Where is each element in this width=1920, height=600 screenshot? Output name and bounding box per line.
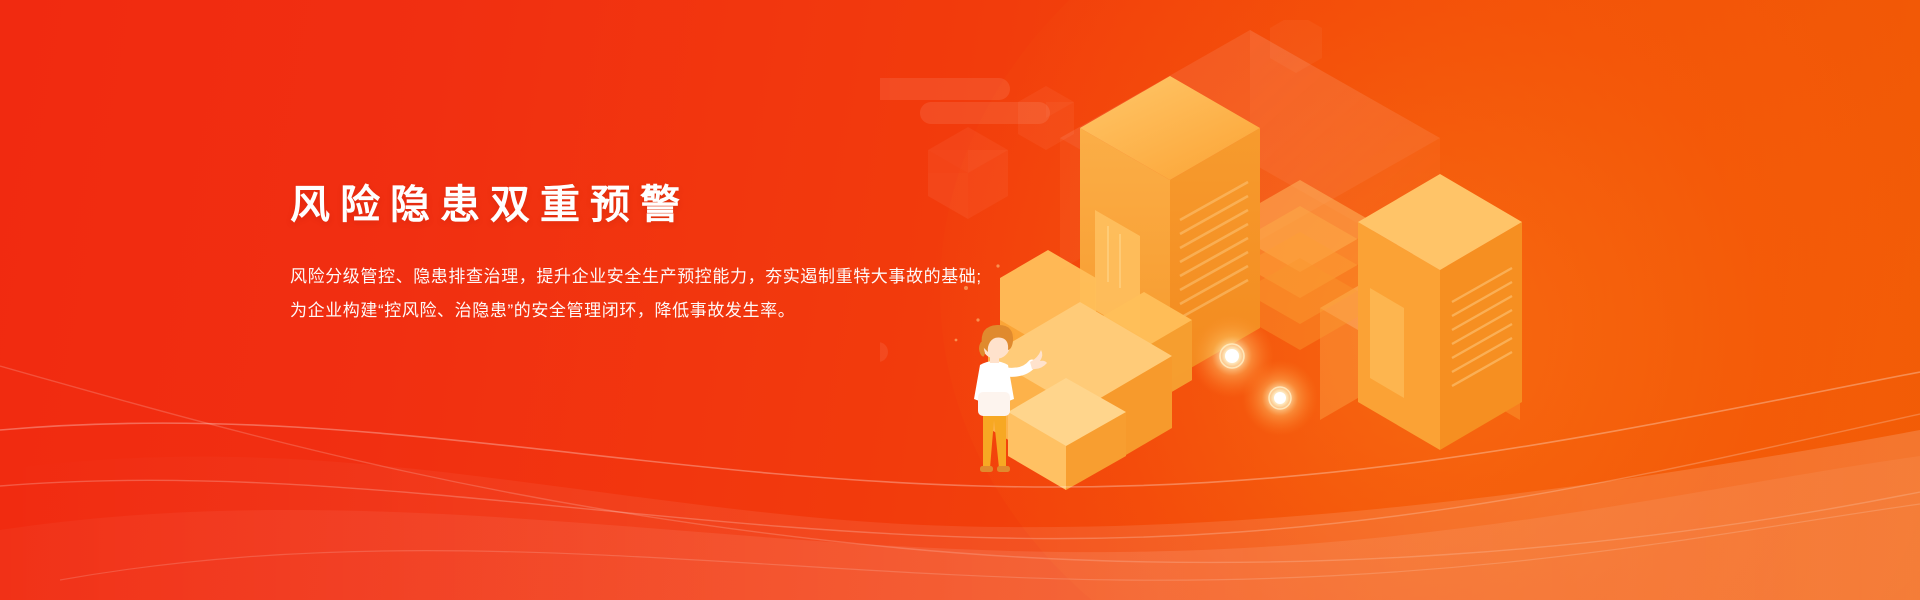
ghost-prism-background (1060, 30, 1440, 270)
background-glow (940, 0, 1920, 600)
hexagon-cube-far-right (1270, 20, 1322, 73)
isometric-tower-main (1080, 76, 1260, 380)
cloud-motif-large (880, 78, 1050, 124)
isometric-cross-block (1000, 250, 1192, 436)
hexagon-cube-small (1018, 86, 1074, 150)
person-pointing (974, 325, 1047, 472)
isometric-tower-right (1358, 174, 1522, 450)
isometric-front-block (1008, 378, 1126, 490)
page-title: 风险隐患双重预警 (290, 180, 1010, 230)
layered-plates-right (1220, 180, 1380, 350)
ghost-stack-right (1320, 250, 1520, 420)
banner-subtitle: 风险分级管控、隐患排查治理，提升企业安全生产预控能力，夯实遏制重特大事故的基础;… (290, 230, 1010, 328)
glow-dot-lower (1242, 360, 1318, 436)
subtitle-line-2: 为企业构建“控风险、治隐患”的安全管理闭环，降低事故发生率。 (290, 294, 1010, 328)
banner-copy: 风险隐患双重预警 风险分级管控、隐患排查治理，提升企业安全生产预控能力，夯实遏制… (290, 180, 1010, 328)
subtitle-line-1: 风险分级管控、隐患排查治理，提升企业安全生产预控能力，夯实遏制重特大事故的基础; (290, 260, 1010, 294)
bottom-wave-curves (0, 280, 1920, 600)
glow-dot-upper (1190, 314, 1274, 398)
hero-banner: 风险隐患双重预警 风险分级管控、隐患排查治理，提升企业安全生产预控能力，夯实遏制… (0, 0, 1920, 600)
isometric-base-block (988, 302, 1172, 482)
